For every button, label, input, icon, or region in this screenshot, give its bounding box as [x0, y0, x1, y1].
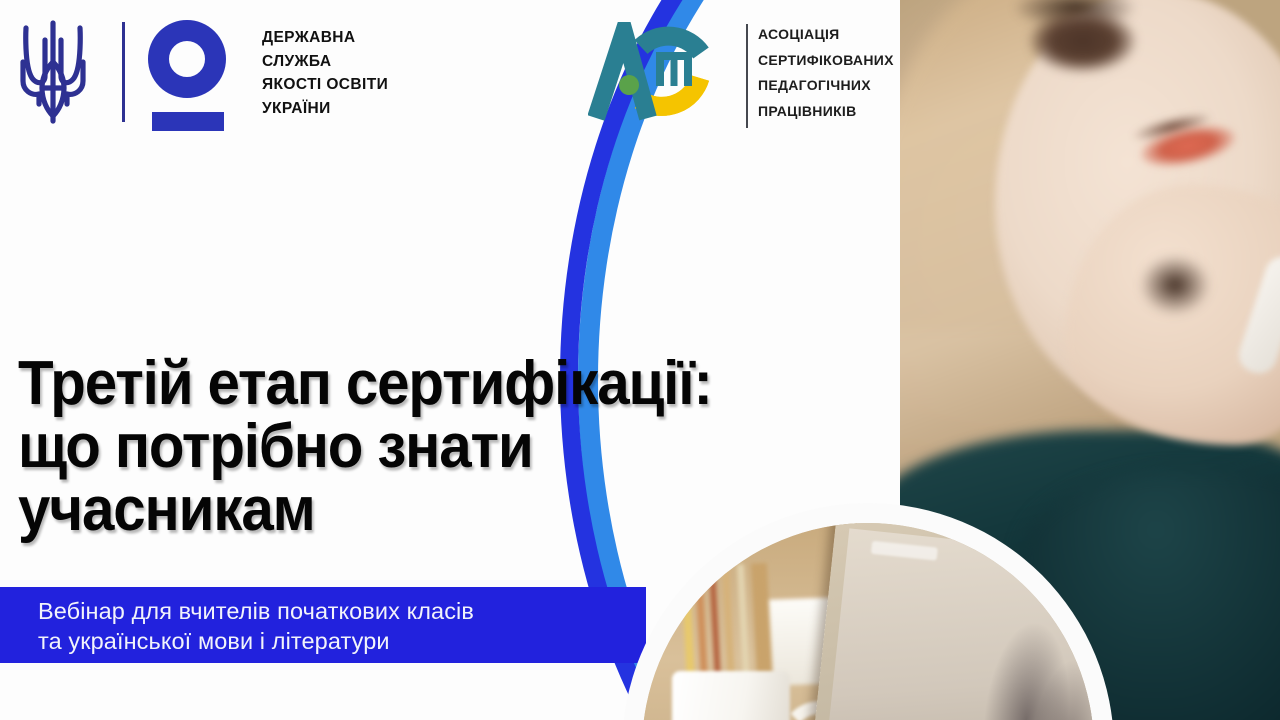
acpp-line-3: ПЕДАГОГІЧНИХ: [758, 73, 968, 99]
acpp-logo-text: АСОЦІАЦІЯ СЕРТИФІКОВАНИХ ПЕДАГОГІЧНИХ ПР…: [758, 22, 968, 124]
acpp-line-1: АСОЦІАЦІЯ: [758, 22, 968, 48]
sqe-ring-mark-icon: [148, 20, 232, 124]
logo-header: ДЕРЖАВНА СЛУЖБА ЯКОСТІ ОСВІТИ УКРАЇНИ АС…: [0, 0, 960, 150]
circular-photo: WEBINA: [642, 523, 1094, 720]
banner-canvas: ДЕРЖАВНА СЛУЖБА ЯКОСТІ ОСВІТИ УКРАЇНИ АС…: [0, 0, 1280, 720]
subtitle-bar: Вебінар для вчителів початкових класів т…: [0, 587, 646, 663]
header-divider-2: [746, 24, 748, 128]
header-divider-1: [122, 22, 125, 122]
circle-screen-badge: [871, 541, 938, 561]
sqe-line-3: ЯКОСТІ ОСВІТИ: [262, 73, 522, 97]
sqe-logo-text: ДЕРЖАВНА СЛУЖБА ЯКОСТІ ОСВІТИ УКРАЇНИ: [262, 26, 522, 120]
acpp-line-4: ПРАЦІВНИКІВ: [758, 99, 968, 125]
headline: Третій етап сертифікації: що потрібно зн…: [18, 352, 808, 541]
subtitle-line-1: Вебінар для вчителів початкових класів: [38, 596, 638, 626]
circle-mug: [672, 671, 790, 720]
sqe-line-1: ДЕРЖАВНА: [262, 26, 522, 50]
circle-tablet: WEBINA: [786, 523, 1094, 720]
sqe-ring-shape: [148, 20, 226, 98]
acpp-line-2: СЕРТИФІКОВАНИХ: [758, 48, 968, 74]
sqe-line-4: УКРАЇНИ: [262, 97, 522, 121]
headline-line-2: що потрібно знати: [18, 415, 808, 478]
sqe-bar-shape: [152, 112, 224, 131]
ukrainian-trident-icon: [18, 18, 88, 126]
portrait-eye: [1030, 10, 1135, 72]
circular-photo-frame: WEBINA: [622, 503, 1114, 720]
circle-tablet-screen: WEBINA: [804, 528, 1094, 720]
headline-line-1: Третій етап сертифікації:: [18, 352, 808, 415]
portrait-knuckle-shadow: [1140, 255, 1210, 315]
acpp-monogram-icon: [588, 22, 736, 126]
subtitle-text: Вебінар для вчителів початкових класів т…: [38, 596, 638, 656]
sqe-line-2: СЛУЖБА: [262, 50, 522, 74]
circle-screen-webinar-text: WEBINA: [855, 710, 1094, 720]
subtitle-line-2: та української мови і літератури: [38, 626, 638, 656]
circle-pencils: [681, 563, 773, 685]
